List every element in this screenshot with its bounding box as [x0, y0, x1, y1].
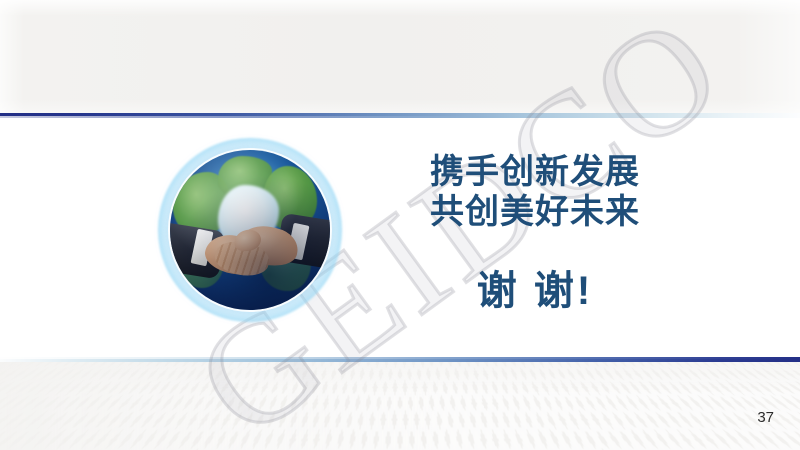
mesh-fade-overlay [0, 362, 800, 450]
headline-line-1: 携手创新发展 [410, 152, 660, 192]
headline-line-2: 共创美好未来 [410, 192, 660, 232]
headline-block: 携手创新发展 共创美好未来 [410, 152, 660, 232]
top-background-band [0, 0, 800, 115]
thank-you-text: 谢 谢! [410, 258, 660, 316]
bottom-background-band [0, 362, 800, 450]
globe-shading-overlay [170, 150, 330, 310]
bottom-divider-rule [0, 357, 800, 362]
page-number: 37 [757, 409, 774, 426]
content-stage [0, 118, 800, 358]
top-divider-rule [0, 113, 800, 118]
slide-canvas: GEIDCO [0, 0, 800, 450]
globe-icon [170, 150, 330, 310]
globe-handshake-image [158, 138, 342, 322]
